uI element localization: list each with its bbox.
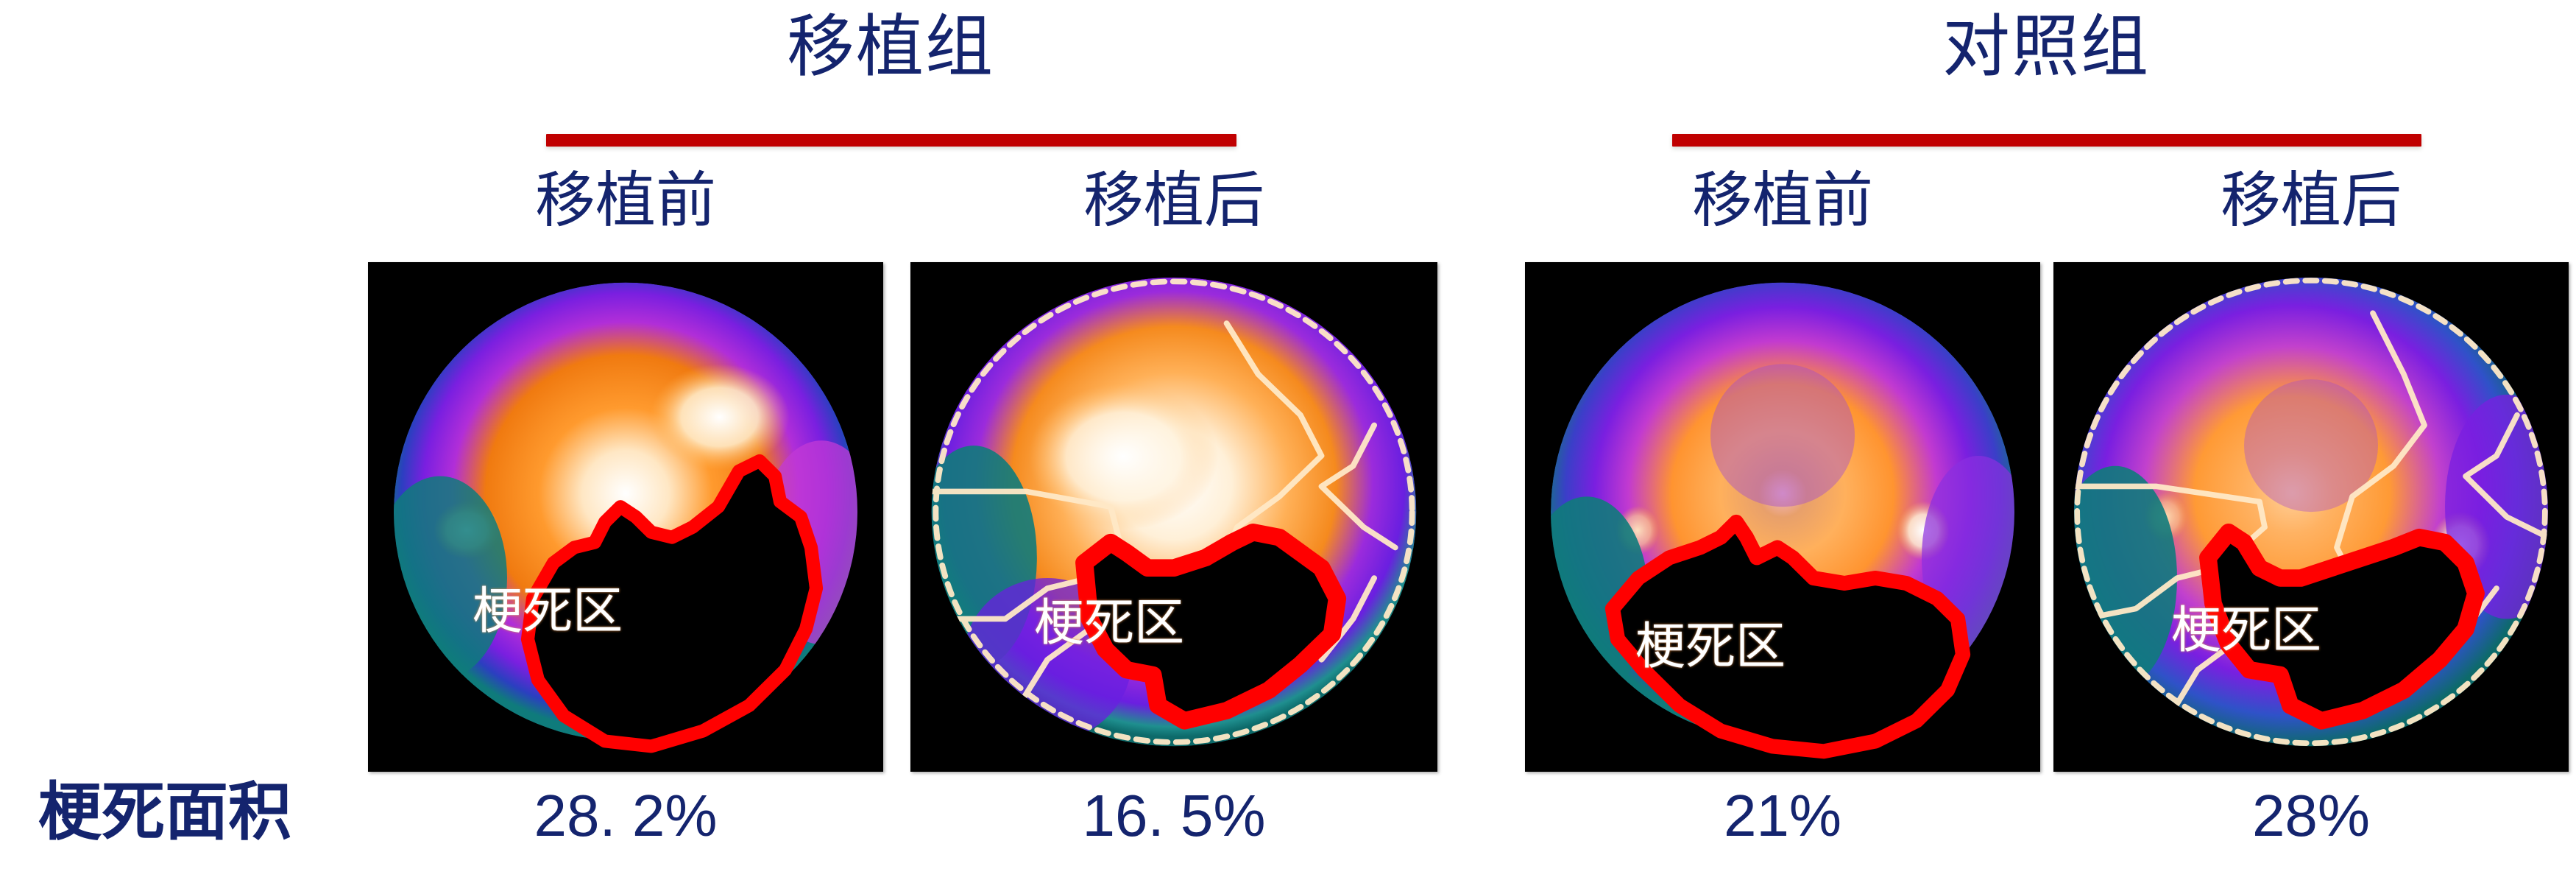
group-rule-control [1672, 134, 2421, 147]
infarct-area-figure: 移植组 移植前 移植后 [0, 0, 2576, 880]
polar-map-control-post: 梗死区 [2053, 262, 2569, 772]
group-title-control: 对照组 [1671, 13, 2421, 81]
phase-label-transplant-pre: 移植前 [368, 171, 883, 231]
percent-control-post: 28% [2053, 786, 2569, 845]
percent-transplant-post: 16. 5% [910, 786, 1437, 845]
polar-map-transplant-pre: 梗死区 [368, 262, 883, 772]
phase-label-control-pre: 移植前 [1525, 171, 2040, 231]
group-title-transplant: 移植组 [545, 13, 1236, 81]
group-rule-transplant [546, 134, 1236, 147]
polar-map-transplant-post: 梗死区 [910, 262, 1437, 772]
row-label-infarct-area: 梗死面积 [38, 781, 291, 844]
polar-map-control-pre: 梗死区 [1525, 262, 2040, 772]
phase-label-control-post: 移植后 [2053, 171, 2569, 231]
phase-label-transplant-post: 移植后 [910, 171, 1437, 231]
percent-control-pre: 21% [1525, 786, 2040, 845]
percent-transplant-pre: 28. 2% [368, 786, 883, 845]
